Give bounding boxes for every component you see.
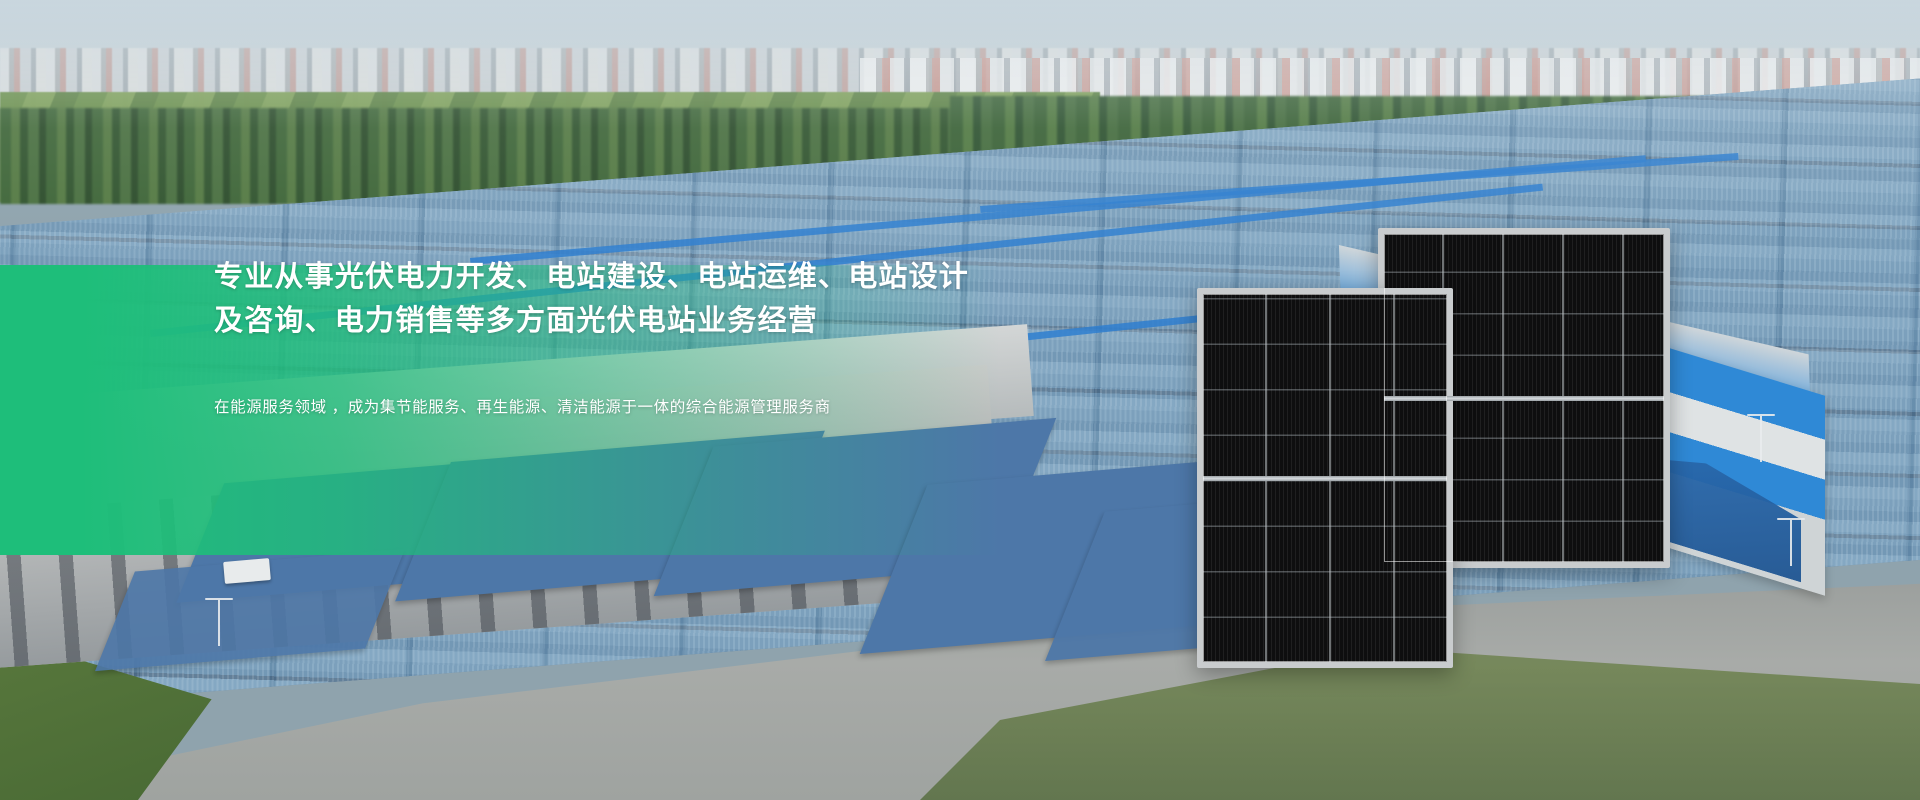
street-lamp	[218, 600, 220, 646]
hero-banner: 专业从事光伏电力开发、电站建设、电站运维、电站设计 及咨询、电力销售等多方面光伏…	[0, 0, 1920, 800]
solar-panel-glass	[1203, 294, 1447, 662]
banner-subtitle: 在能源服务领域 ，成为集节能服务、再生能源、清洁能源于一体的综合能源管理服务商	[214, 395, 954, 421]
banner-headline-line-2: 及咨询、电力销售等多方面光伏电站业务经营	[214, 299, 954, 343]
banner-copy-block: 专业从事光伏电力开发、电站建设、电站运维、电站设计 及咨询、电力销售等多方面光伏…	[214, 255, 954, 421]
solar-panel-product-image-front	[1197, 288, 1453, 668]
banner-headline-line-1: 专业从事光伏电力开发、电站建设、电站运维、电站设计	[214, 255, 954, 299]
solar-panel-center-busbar	[1203, 476, 1447, 481]
parked-truck	[223, 558, 271, 584]
street-lamp	[1760, 416, 1762, 462]
solar-panel-center-busbar	[1384, 396, 1664, 401]
street-lamp	[1790, 520, 1792, 566]
